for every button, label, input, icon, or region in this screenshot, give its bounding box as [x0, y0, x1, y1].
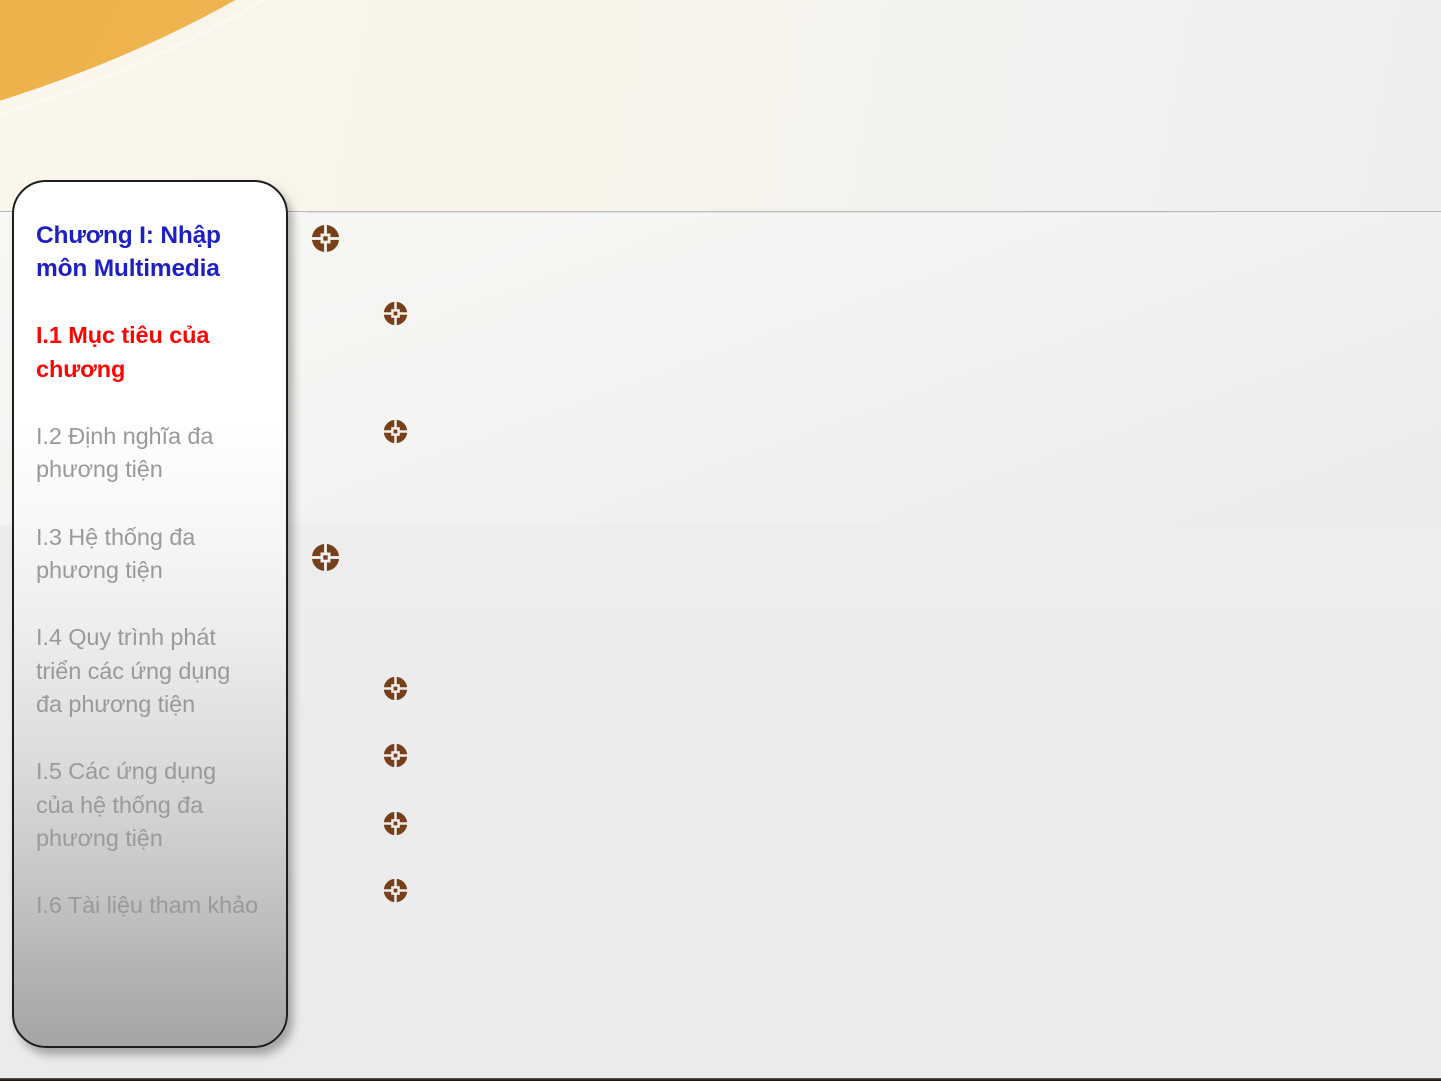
target-bullet-icon [383, 301, 408, 326]
bullet-item-1[interactable] [311, 224, 354, 253]
target-bullet-icon [383, 811, 408, 836]
bullet-item-2[interactable] [383, 301, 422, 326]
bullet-item-5[interactable] [383, 676, 422, 701]
target-bullet-icon [383, 743, 408, 768]
bullet-item-8[interactable] [383, 878, 422, 903]
target-bullet-icon [311, 543, 340, 572]
target-bullet-icon [311, 224, 340, 253]
bullet-item-4[interactable] [311, 543, 354, 572]
slide-content-body [0, 0, 1441, 1081]
slide-canvas: Chương I: Nhập môn Multimedia I.1 Mục ti… [0, 0, 1441, 1081]
target-bullet-icon [383, 676, 408, 701]
bullet-item-6[interactable] [383, 743, 422, 768]
target-bullet-icon [383, 878, 408, 903]
bullet-item-7[interactable] [383, 811, 422, 836]
bullet-item-3[interactable] [383, 419, 422, 444]
target-bullet-icon [383, 419, 408, 444]
